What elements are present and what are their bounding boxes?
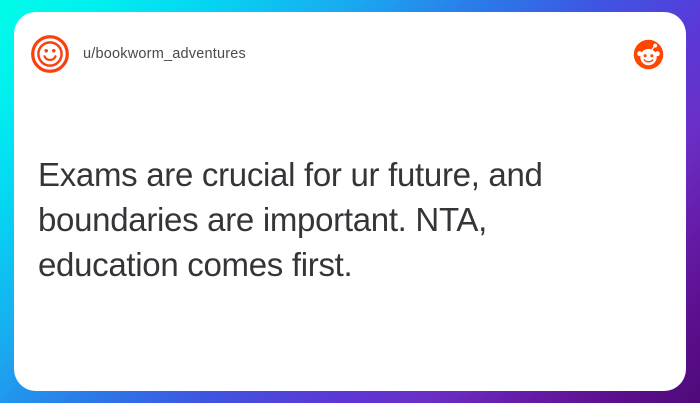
- quote-line: Exams are crucial for ur future, and: [38, 152, 646, 197]
- avatar[interactable]: [31, 35, 69, 73]
- reddit-snoo-icon[interactable]: [633, 39, 664, 70]
- card-header: u/bookworm_adventures: [14, 12, 686, 96]
- quote-line: boundaries are important. NTA,: [38, 197, 646, 242]
- quote-card-stage: u/bookworm_adventures Exams are crucial …: [0, 0, 700, 403]
- smiley-face-avatar-icon: [31, 35, 69, 73]
- quote-text-block: Exams are crucial for ur future, and bou…: [38, 152, 646, 287]
- reddit-quote-card: u/bookworm_adventures Exams are crucial …: [14, 12, 686, 391]
- username-label: u/bookworm_adventures: [83, 46, 246, 62]
- quote-line: education comes first.: [38, 242, 646, 287]
